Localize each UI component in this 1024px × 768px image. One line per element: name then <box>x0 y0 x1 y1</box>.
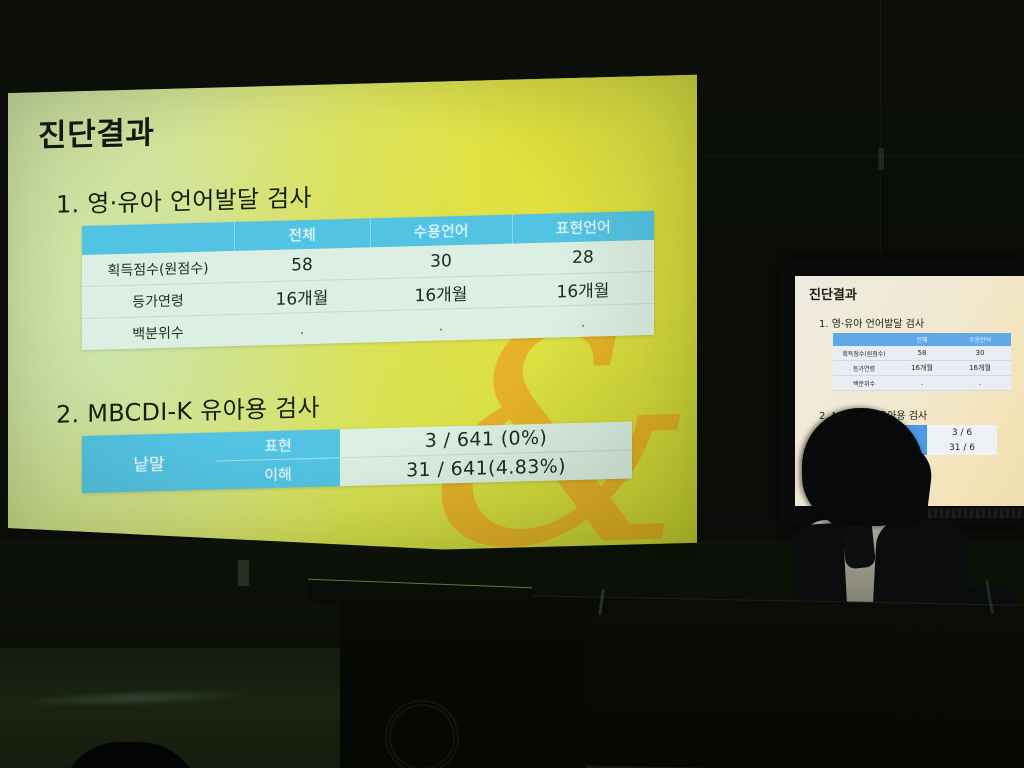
table-row: 획득점수(원점수) 58 30 <box>833 346 1011 361</box>
cell-pct-receptive: . <box>370 307 512 342</box>
mon-col-total: 전체 <box>895 333 949 346</box>
table-row: 백분위수 . . <box>833 376 1011 391</box>
slide-title: 진단결과 <box>38 93 673 155</box>
monitor-section-1-heading: 1. 영·유아 언어발달 검사 <box>819 315 1024 330</box>
cell-age-expressive: 16개월 <box>512 271 654 307</box>
row-label-equivalent-age: 등가연령 <box>82 283 234 319</box>
cell-pct-expressive: . <box>512 303 654 338</box>
group-label-word: 낱말 <box>82 432 216 493</box>
subtype-receptive: 이해 <box>216 458 340 490</box>
presenter-hair-side <box>873 441 935 533</box>
mon-row-label-age: 등가연령 <box>833 361 895 376</box>
cell-age-total: 16개월 <box>234 279 370 315</box>
presenter-collar <box>842 525 876 570</box>
mbcdik-table: 낱말 표현 3 / 641 (0%) 이해 31 / 641(4.83%) <box>82 421 632 493</box>
mon-row-label-pct: 백분위수 <box>833 376 895 391</box>
col-header-expressive: 표현언어 <box>512 211 654 244</box>
projection-screen: & 진단결과 1. 영·유아 언어발달 검사 전체 수용언어 <box>0 62 712 582</box>
cell-pct-total: . <box>234 311 370 346</box>
table-row: 등가연령 16개월 16개월 <box>833 361 1011 376</box>
cell-raw-expressive: 28 <box>512 240 654 275</box>
col-header-receptive: 수용언어 <box>370 215 512 248</box>
mon-cell-age-receptive: 16개월 <box>949 361 1011 376</box>
col-header-total: 전체 <box>234 218 370 251</box>
projected-slide: & 진단결과 1. 영·유아 언어발달 검사 전체 수용언어 <box>8 75 697 561</box>
wall-bracket <box>878 148 884 170</box>
wall-seam-horizontal <box>700 156 1024 157</box>
lectern-body <box>340 600 586 768</box>
mon-cell-raw-receptive: 30 <box>949 346 1011 361</box>
mon-cell-raw-total: 58 <box>895 346 949 361</box>
mon-col-receptive: 수용언어 <box>949 333 1011 346</box>
cell-raw-total: 58 <box>234 247 370 282</box>
desk <box>520 595 1024 768</box>
mon-col-blank <box>833 333 895 346</box>
language-development-table: 전체 수용언어 표현언어 획득점수(원점수) 58 30 28 <box>82 211 654 350</box>
subtype-expressive: 표현 <box>216 429 340 461</box>
row-label-percentile: 백분위수 <box>82 315 234 351</box>
wall-socket <box>238 560 249 586</box>
monitor-slide-title: 진단결과 <box>809 284 1024 303</box>
mon-cell-age-total: 16개월 <box>895 361 949 376</box>
lecture-hall-scene: & 진단결과 1. 영·유아 언어발달 검사 전체 수용언어 <box>0 0 1024 768</box>
cell-age-receptive: 16개월 <box>370 275 512 311</box>
col-header-blank <box>82 222 234 255</box>
table-header-row: 전체 수용언어 <box>833 333 1011 346</box>
monitor-table-1: 전체 수용언어 획득점수(원점수) 58 30 등가연령 16개월 16개월 <box>833 333 1011 391</box>
cell-raw-receptive: 30 <box>370 244 512 279</box>
row-label-raw-score: 획득점수(원점수) <box>82 251 234 287</box>
lectern-emblem-icon <box>385 700 459 768</box>
mon-row-label-raw: 획득점수(원점수) <box>833 346 895 361</box>
mon-cell-pct-total: . <box>895 376 949 391</box>
mon-cell-pct-receptive: . <box>949 376 1011 391</box>
